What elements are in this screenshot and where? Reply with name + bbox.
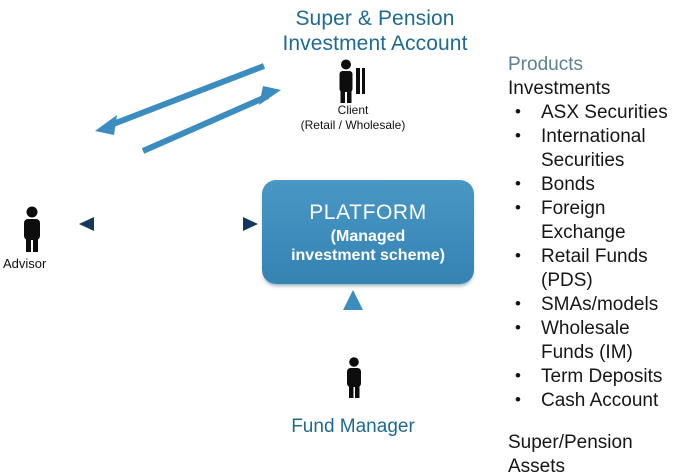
- page-title-line2: Investment Account: [263, 31, 487, 56]
- platform-box[interactable]: PLATFORM (Managed investment scheme): [262, 180, 474, 284]
- list-item[interactable]: Cash Account: [508, 389, 686, 413]
- arrow-advisor-platform: [79, 217, 258, 231]
- client-sublabel: (Retail / Wholesale): [283, 118, 423, 133]
- investments-heading: Investments: [508, 77, 686, 101]
- list-item[interactable]: ASX Securities: [508, 101, 686, 125]
- list-item[interactable]: Term Deposits: [508, 365, 686, 389]
- arrow-client-inbound: [143, 86, 281, 151]
- section-spacer: [508, 413, 686, 431]
- fund-manager-icon: [340, 356, 368, 400]
- products-heading: Products: [508, 53, 686, 77]
- super-pension-heading-line2: Assets: [508, 455, 686, 476]
- list-item-continuation: Funds (IM): [508, 341, 686, 365]
- client-icon: [325, 58, 381, 104]
- platform-subtitle-line1: (Managed: [331, 227, 406, 246]
- list-item[interactable]: International: [508, 125, 686, 149]
- investments-list: ASX Securities International Securities …: [508, 101, 686, 413]
- platform-title: PLATFORM: [309, 200, 427, 225]
- list-item-continuation: (PDS): [508, 269, 686, 293]
- list-item-continuation: Exchange: [508, 221, 686, 245]
- advisor-icon: [16, 205, 48, 253]
- fund-manager-label: Fund Manager: [253, 415, 453, 438]
- products-panel: Products Investments ASX Securities Inte…: [508, 53, 686, 476]
- list-item[interactable]: Wholesale: [508, 317, 686, 341]
- arrow-client-outbound: [95, 66, 264, 135]
- list-item[interactable]: Bonds: [508, 173, 686, 197]
- list-item[interactable]: Retail Funds: [508, 245, 686, 269]
- list-item[interactable]: SMAs/models: [508, 293, 686, 317]
- diagram-canvas: Super & Pension Investment Account Clien…: [0, 0, 686, 476]
- arrow-fundmanager-platform: [343, 290, 363, 350]
- list-item[interactable]: Foreign: [508, 197, 686, 221]
- page-title-line1: Super & Pension: [263, 6, 487, 31]
- page-title: Super & Pension Investment Account: [263, 6, 487, 56]
- platform-subtitle-line2: investment scheme): [291, 246, 445, 265]
- advisor-label: Advisor: [3, 256, 73, 272]
- client-label: Client: [293, 103, 413, 118]
- list-item-continuation: Securities: [508, 149, 686, 173]
- super-pension-heading-line1: Super/Pension: [508, 431, 686, 455]
